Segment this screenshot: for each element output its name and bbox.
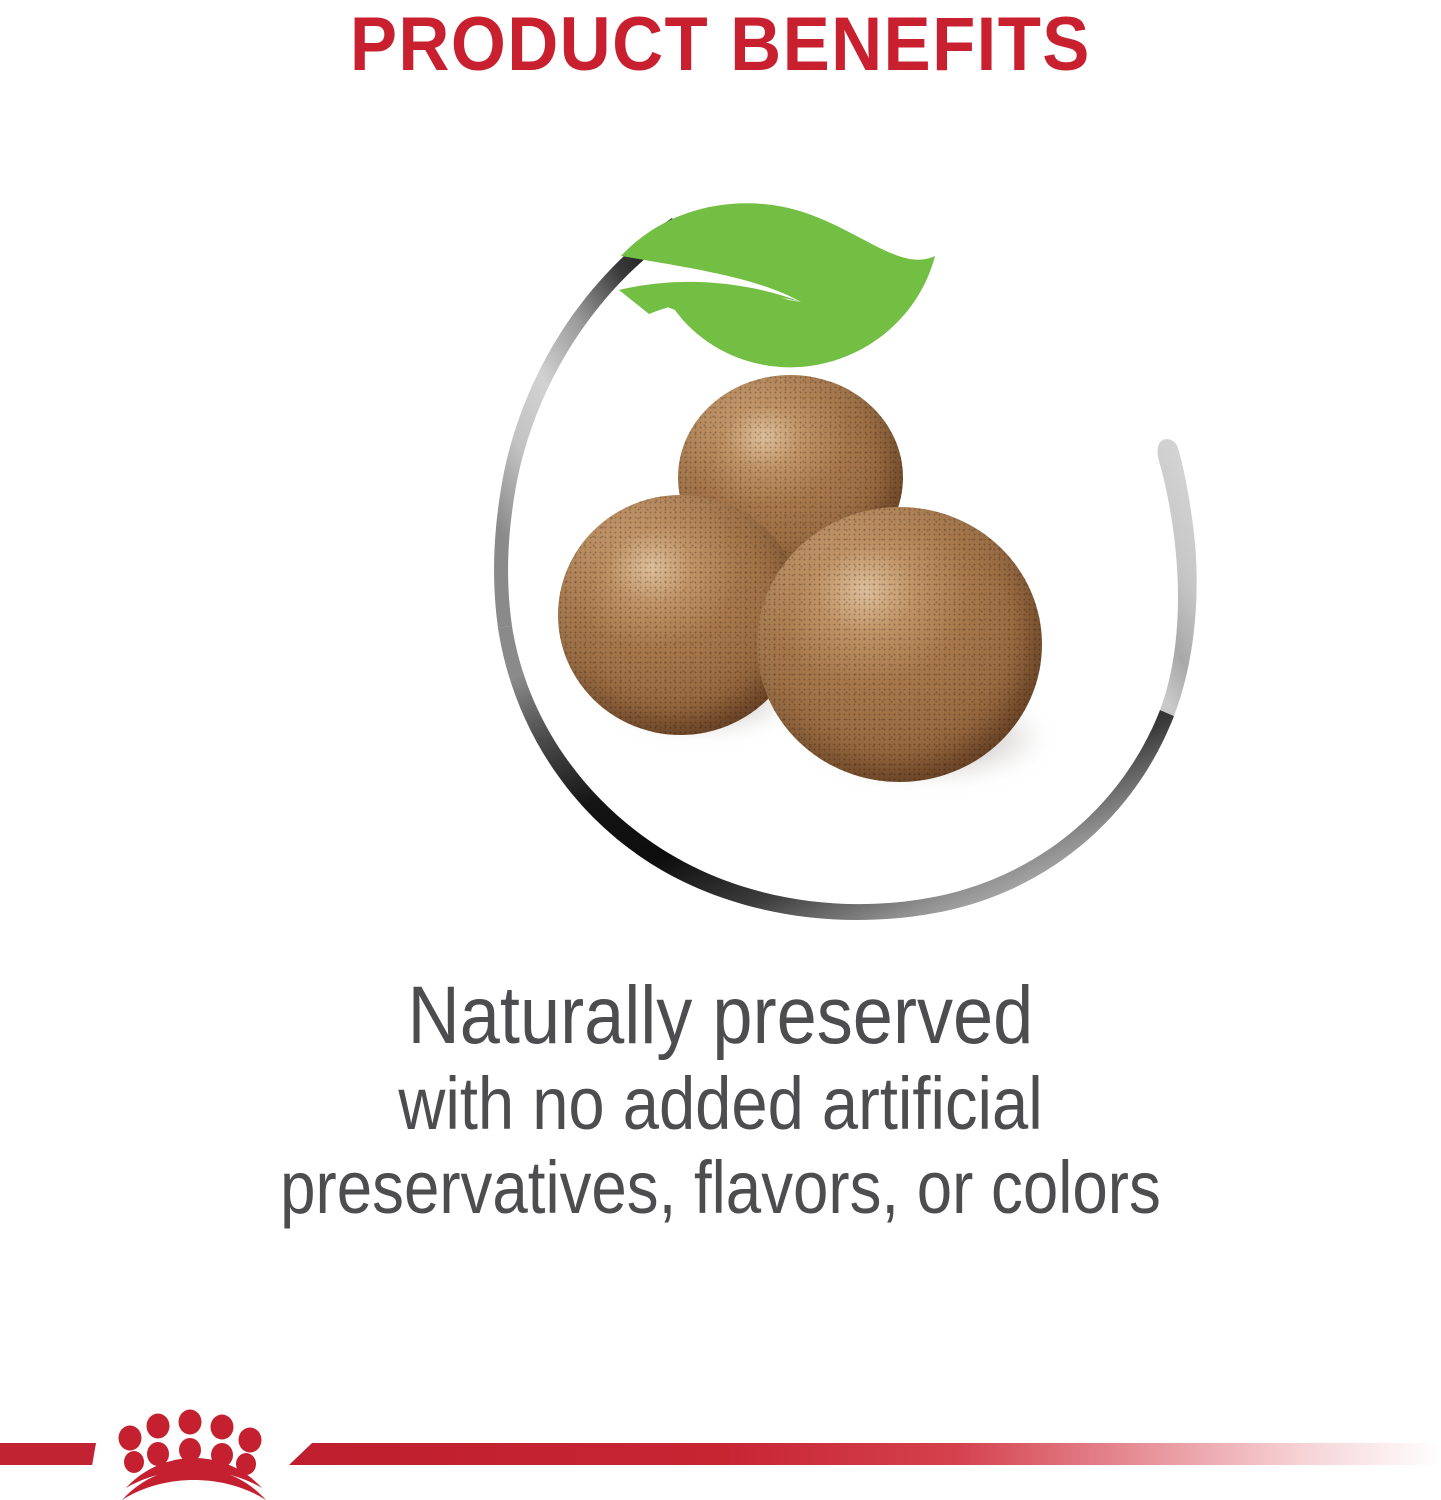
- royal-canin-crown-logo-icon: [96, 1400, 292, 1500]
- benefit-subline-1: with no added artificial: [86, 1062, 1354, 1146]
- page-title: PRODUCT BENEFITS: [350, 7, 1091, 83]
- product-benefit-illustration: [0, 150, 1441, 970]
- benefit-headline: Naturally preserved: [86, 970, 1354, 1062]
- kibble-pieces: [550, 375, 1110, 795]
- benefit-copy-block: Naturally preserved with no added artifi…: [0, 970, 1441, 1230]
- green-leaf-icon: [615, 198, 955, 368]
- footer-brand-bar: [0, 1400, 1441, 1500]
- footer-bar-left: [0, 1443, 96, 1465]
- page-title-bar: PRODUCT BENEFITS: [0, 0, 1441, 90]
- benefit-subline-2: preservatives, flavors, or colors: [101, 1146, 1340, 1230]
- kibble-piece-right: [757, 507, 1042, 782]
- footer-bar-right: [289, 1443, 1441, 1465]
- ring-arc-right: [1158, 439, 1197, 716]
- illustration-stack: [430, 150, 1230, 940]
